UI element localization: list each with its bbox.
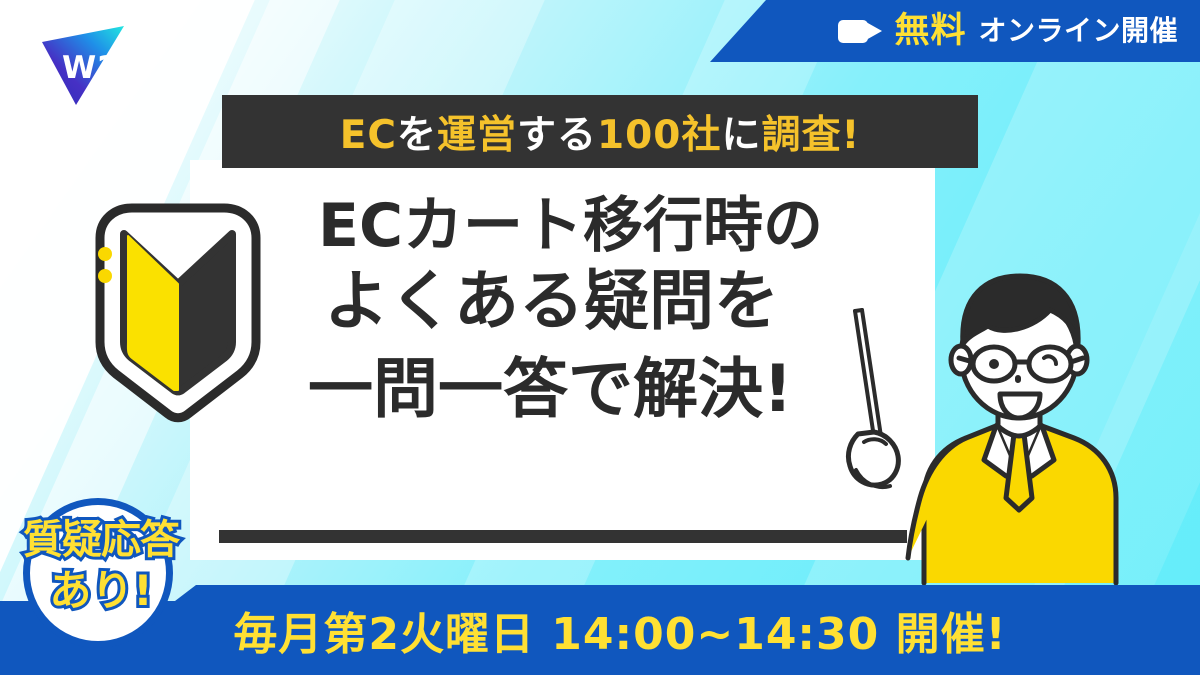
survey-part-chousa: 調査 — [761, 113, 841, 158]
title-line-2-wrap: よくある疑問を — [300, 269, 900, 335]
survey-banner: ECを運営する100社に調査! — [222, 95, 978, 168]
title-line-1: ECカート移行時の — [300, 196, 900, 257]
video-camera-icon — [838, 18, 882, 45]
qa-badge-line-1: 質疑応答 — [12, 520, 190, 560]
qa-badge: 質疑応答 あり! — [12, 492, 190, 650]
title-line-3: 一問一答で解決! — [300, 357, 900, 423]
survey-part-excl: ! — [841, 113, 860, 158]
free-online-ribbon-content: 無料 オンライン開催 — [710, 0, 1200, 62]
survey-part-ni: に — [721, 113, 761, 158]
survey-part-ec: EC — [340, 113, 397, 158]
survey-part-wo: を — [397, 113, 437, 158]
schedule-text: 毎月第2火曜日 14:00~14:30 開催! — [233, 598, 1006, 662]
w2-logo[interactable]: W2 — [28, 12, 146, 127]
qa-badge-line-2: あり! — [12, 570, 190, 612]
online-label: オンライン開催 — [978, 17, 1178, 45]
survey-part-suru: する — [517, 113, 597, 158]
webinar-banner: 無料 オンライン開催 W2 ECを運営す — [0, 0, 1200, 675]
main-title: ECカート移行時の よくある疑問を 一問一答で解決! — [300, 196, 900, 424]
title-line-3-wrap: 一問一答で解決! — [300, 357, 900, 423]
survey-part-unei: 運営 — [437, 113, 517, 158]
whiteboard-tray — [219, 530, 907, 543]
presenter-with-pointer-illustration — [828, 248, 1200, 588]
title-line-2: よくある疑問を — [300, 269, 900, 335]
survey-part-100sha: 100社 — [597, 113, 721, 158]
free-label: 無料 — [894, 14, 966, 49]
wakaba-beginner-mark-icon — [78, 192, 278, 432]
survey-banner-text: ECを運営する100社に調査! — [340, 104, 861, 160]
w2-logo-text: W2 — [62, 50, 120, 86]
